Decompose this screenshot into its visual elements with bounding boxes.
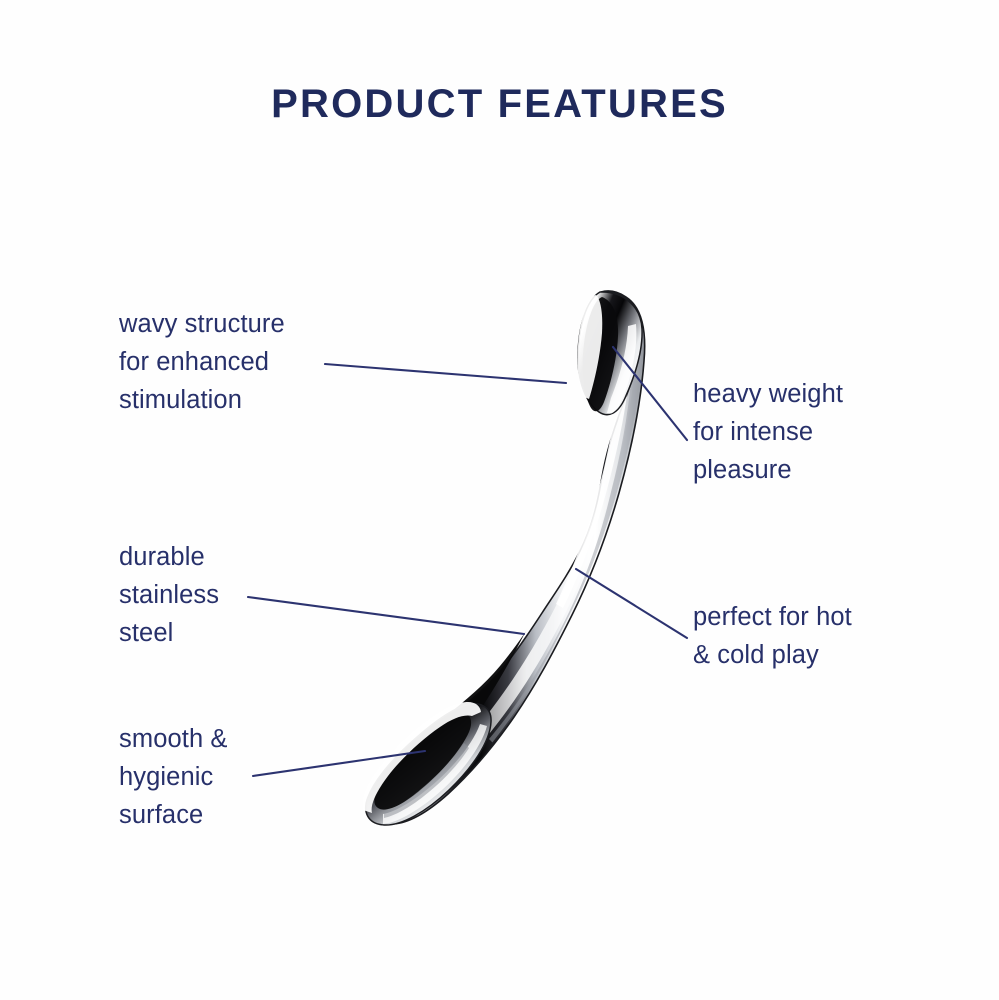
callout-label-heavy-weight: heavy weight for intense pleasure bbox=[693, 375, 843, 489]
callout-line: durable bbox=[119, 538, 219, 576]
bulb-dark-core bbox=[374, 713, 471, 810]
leader-line-durable-steel bbox=[248, 597, 524, 634]
bulb-lower-sheen bbox=[383, 724, 487, 824]
grey-reflection bbox=[489, 346, 642, 745]
page-title: PRODUCT FEATURES bbox=[0, 82, 999, 127]
specular-streak bbox=[556, 336, 631, 608]
callout-line: hygienic bbox=[119, 758, 228, 796]
callout-line: stainless bbox=[119, 576, 219, 614]
product-illustration bbox=[0, 0, 999, 1000]
left-edge-highlight bbox=[368, 301, 619, 794]
callout-label-wavy-structure: wavy structure for enhanced stimulation bbox=[119, 305, 285, 419]
callout-line: smooth & bbox=[119, 720, 228, 758]
callout-line: heavy weight bbox=[693, 375, 843, 413]
callout-line: for intense bbox=[693, 413, 843, 451]
bulb-grey-reflection bbox=[384, 743, 469, 818]
product-silhouette bbox=[372, 291, 645, 824]
callout-line: & cold play bbox=[693, 636, 852, 674]
tip-dark-core bbox=[583, 297, 618, 411]
product-features-infographic: PRODUCT FEATURES bbox=[0, 0, 999, 1000]
callout-line: wavy structure bbox=[119, 305, 285, 343]
callout-label-perfect-hot-cold: perfect for hot & cold play bbox=[693, 598, 852, 674]
tip-right-sheen bbox=[607, 324, 636, 414]
callout-line: steel bbox=[119, 614, 219, 652]
core-shadow-band bbox=[374, 300, 620, 808]
leader-line-hot-cold bbox=[576, 569, 687, 638]
product-bottom-bulb bbox=[362, 702, 491, 825]
callout-line: for enhanced bbox=[119, 343, 285, 381]
bulb-upper-highlight bbox=[362, 702, 481, 813]
leader-line-heavy-weight bbox=[613, 347, 687, 440]
leader-line-wavy-structure bbox=[325, 364, 566, 383]
callout-label-smooth-hygienic-surface: smooth & hygienic surface bbox=[119, 720, 228, 834]
callout-label-durable-stainless-steel: durable stainless steel bbox=[119, 538, 219, 652]
leader-line-smooth-hygienic bbox=[253, 751, 425, 776]
product-top-tip bbox=[578, 292, 643, 415]
tip-left-highlight bbox=[578, 295, 603, 399]
callout-leader-lines bbox=[248, 347, 687, 776]
callout-line: perfect for hot bbox=[693, 598, 852, 636]
product-body bbox=[368, 291, 644, 824]
callout-line: pleasure bbox=[693, 451, 843, 489]
right-sheen bbox=[393, 330, 636, 818]
callout-line: surface bbox=[119, 796, 228, 834]
callout-line: stimulation bbox=[119, 381, 285, 419]
